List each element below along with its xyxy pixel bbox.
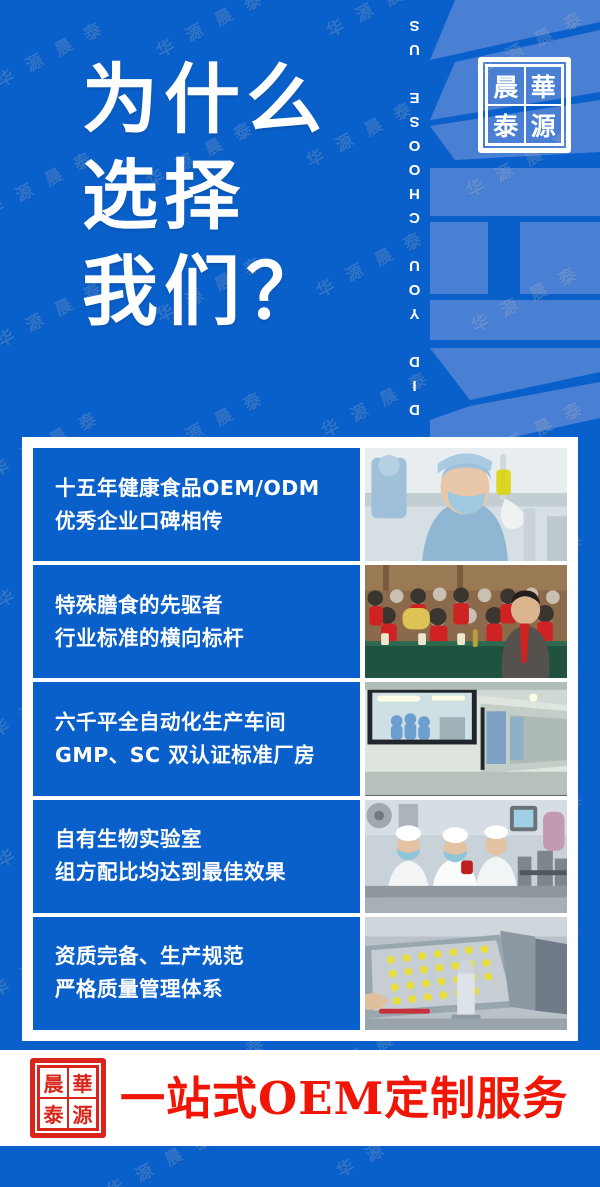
conference-audience-hall-image xyxy=(365,565,567,678)
seal-char-top-left: 晨 xyxy=(487,66,525,105)
feature-card: 特殊膳食的先驱者 行业标准的横向标杆 xyxy=(33,565,567,678)
feature-card-text: 六千平全自动化生产车间 GMP、SC 双认证标准厂房 xyxy=(33,682,360,795)
feature-line-1: 十五年健康食品OEM/ODM xyxy=(55,472,360,505)
banner-slogan: 一站式OEM定制服务 xyxy=(120,1076,568,1121)
seal-char-top-right: 華 xyxy=(525,66,563,105)
feature-card-text: 十五年健康食品OEM/ODM 优秀企业口碑相传 xyxy=(33,448,360,561)
feature-line-1: 资质完备、生产规范 xyxy=(55,940,360,973)
feature-card-text: 自有生物实验室 组方配比均达到最佳效果 xyxy=(33,800,360,913)
title-line-1: 为什么 xyxy=(82,52,328,148)
brand-seal-top: 晨 華 泰 源 xyxy=(478,57,571,153)
feature-line-2: GMP、SC 双认证标准厂房 xyxy=(55,739,360,772)
vertical-english-text: DID YOU CHOOSE US xyxy=(406,10,423,418)
tablet-blister-packing-machine-image xyxy=(365,917,567,1030)
seal-char-bottom-left: 泰 xyxy=(487,105,525,144)
title-line-2: 选择 xyxy=(82,148,328,244)
seal-inner-grid: 晨 華 泰 源 xyxy=(37,1065,99,1131)
feature-card-text: 资质完备、生产规范 严格质量管理体系 xyxy=(33,917,360,1030)
feature-card: 资质完备、生产规范 严格质量管理体系 xyxy=(33,917,567,1030)
feature-line-1: 自有生物实验室 xyxy=(55,823,360,856)
feature-card: 十五年健康食品OEM/ODM 优秀企业口碑相传 xyxy=(33,448,567,561)
brand-seal-bottom: 晨 華 泰 源 xyxy=(30,1058,106,1138)
feature-card-text: 特殊膳食的先驱者 行业标准的横向标杆 xyxy=(33,565,360,678)
page-title: 为什么 选择 我们？ xyxy=(82,52,328,340)
workers-on-production-line-image xyxy=(365,800,567,913)
seal-char-top-right: 華 xyxy=(68,1067,97,1098)
feature-line-2: 行业标准的横向标杆 xyxy=(55,622,360,655)
seal-char-top-left: 晨 xyxy=(39,1067,68,1098)
feature-line-2: 优秀企业口碑相传 xyxy=(55,505,360,538)
seal-char-bottom-right: 源 xyxy=(68,1098,97,1129)
feature-panel: 十五年健康食品OEM/ODM 优秀企业口碑相传 xyxy=(22,437,578,1041)
feature-line-1: 特殊膳食的先驱者 xyxy=(55,589,360,622)
promo-poster: 华 源 晨 泰 华 源 晨 泰 华 源 晨 泰 华 源 晨 泰 华 源 晨 泰 … xyxy=(0,0,600,1187)
feature-card-list: 十五年健康食品OEM/ODM 优秀企业口碑相传 xyxy=(33,448,567,1030)
feature-line-2: 严格质量管理体系 xyxy=(55,973,360,1006)
bottom-banner: 晨 華 泰 源 一站式OEM定制服务 xyxy=(0,1050,600,1146)
seal-char-bottom-right: 源 xyxy=(525,105,563,144)
seal-inner-grid: 晨 華 泰 源 xyxy=(485,64,564,146)
title-line-3: 我们？ xyxy=(82,244,328,340)
feature-card: 自有生物实验室 组方配比均达到最佳效果 xyxy=(33,800,567,913)
lab-technician-inspecting-vial-image xyxy=(365,448,567,561)
feature-card: 六千平全自动化生产车间 GMP、SC 双认证标准厂房 xyxy=(33,682,567,795)
feature-line-1: 六千平全自动化生产车间 xyxy=(55,706,360,739)
seal-char-bottom-left: 泰 xyxy=(39,1098,68,1129)
vertical-english-caption: DID YOU CHOOSE US xyxy=(397,18,431,418)
feature-line-2: 组方配比均达到最佳效果 xyxy=(55,856,360,889)
clean-room-production-corridor-image xyxy=(365,682,567,795)
